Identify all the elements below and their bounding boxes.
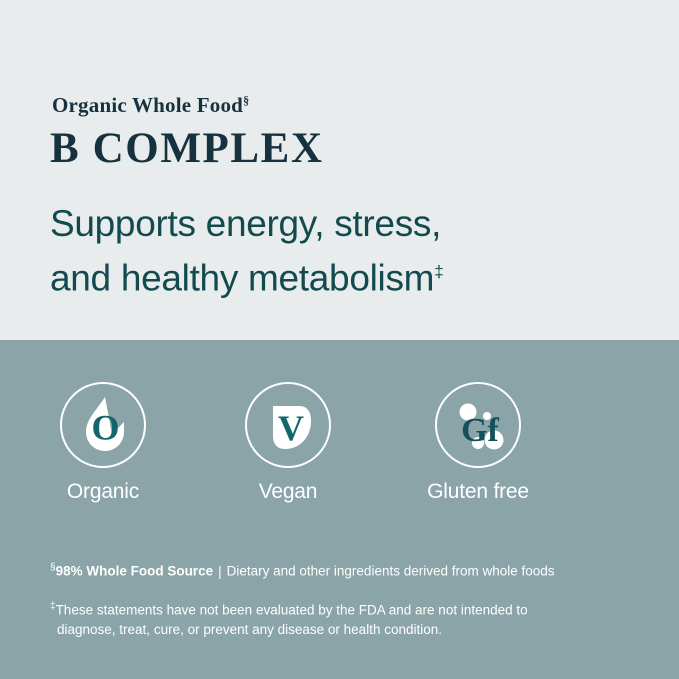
product-claim: Supports energy, stress, and healthy met… [50, 200, 610, 302]
badge-label-organic: Organic [23, 480, 183, 504]
badge-ring-gluten-free: Gf [435, 382, 521, 468]
eyebrow-text: Organic Whole Food§ [52, 93, 249, 118]
product-infographic: Organic Whole Food§ B COMPLEX Supports e… [0, 0, 679, 679]
claim-line-2: and healthy metabolism [50, 257, 434, 298]
svg-text:O: O [91, 408, 119, 448]
certifications-panel: O Organic V Vegan [0, 340, 679, 679]
footnote-whole-food-source: §98% Whole Food Source|Dietary and other… [50, 558, 650, 581]
claim-line-1: Supports energy, stress, [50, 203, 441, 244]
badge-label-vegan: Vegan [208, 480, 368, 504]
badge-gluten-free: Gf Gluten free [398, 382, 558, 504]
footnote-2-line-1: These statements have not been evaluated… [56, 602, 528, 617]
footnotes: §98% Whole Food Source|Dietary and other… [50, 558, 650, 640]
page-title: B COMPLEX [50, 124, 324, 173]
footnote-1-strong: 98% Whole Food Source [56, 564, 214, 579]
vegan-leaf-icon: V [247, 384, 333, 470]
svg-text:V: V [278, 408, 304, 448]
eyebrow-label: Organic Whole Food [52, 93, 243, 117]
organic-droplet-leaf-icon: O [62, 384, 148, 470]
footnote-fda-disclaimer: ‡These statements have not been evaluate… [50, 597, 595, 641]
footnote-2-line-2: diagnose, treat, cure, or prevent any di… [50, 620, 595, 640]
claim-footnote-marker: ‡ [434, 262, 443, 281]
badge-ring-organic: O [60, 382, 146, 468]
header-panel: Organic Whole Food§ B COMPLEX Supports e… [0, 0, 679, 340]
badge-organic: O Organic [23, 382, 183, 504]
eyebrow-footnote-marker: § [243, 93, 249, 107]
badge-row: O Organic V Vegan [0, 382, 679, 512]
badge-vegan: V Vegan [208, 382, 368, 504]
badge-ring-vegan: V [245, 382, 331, 468]
footnote-1-separator: | [213, 564, 227, 579]
svg-text:Gf: Gf [461, 412, 499, 449]
footnote-1-rest: Dietary and other ingredients derived fr… [227, 564, 555, 579]
badge-label-gluten-free: Gluten free [398, 480, 558, 504]
gluten-free-bubbles-icon: Gf [437, 384, 523, 470]
